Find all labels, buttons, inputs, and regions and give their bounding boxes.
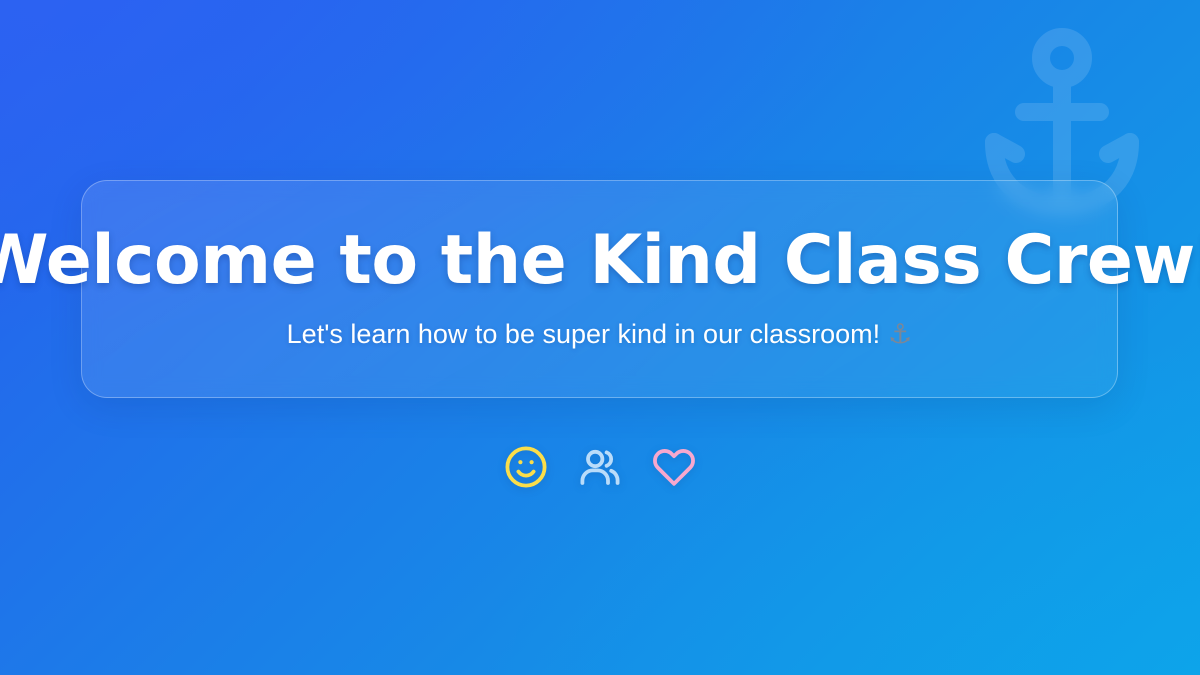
page-title: Welcome to the Kind Class Crew! (0, 226, 1200, 297)
heart-icon (650, 443, 698, 491)
smiley-face-icon (502, 443, 550, 491)
slide-canvas: Welcome to the Kind Class Crew! Let's le… (0, 0, 1200, 675)
page-subtitle: Let's learn how to be super kind in our … (287, 317, 913, 352)
hero-glass-card: Welcome to the Kind Class Crew! Let's le… (81, 180, 1118, 398)
people-group-icon (576, 443, 624, 491)
anchor-emoji-icon: ⚓ (888, 319, 912, 350)
subtitle-text: Let's learn how to be super kind in our … (287, 319, 880, 349)
kindness-icon-row (0, 443, 1200, 491)
